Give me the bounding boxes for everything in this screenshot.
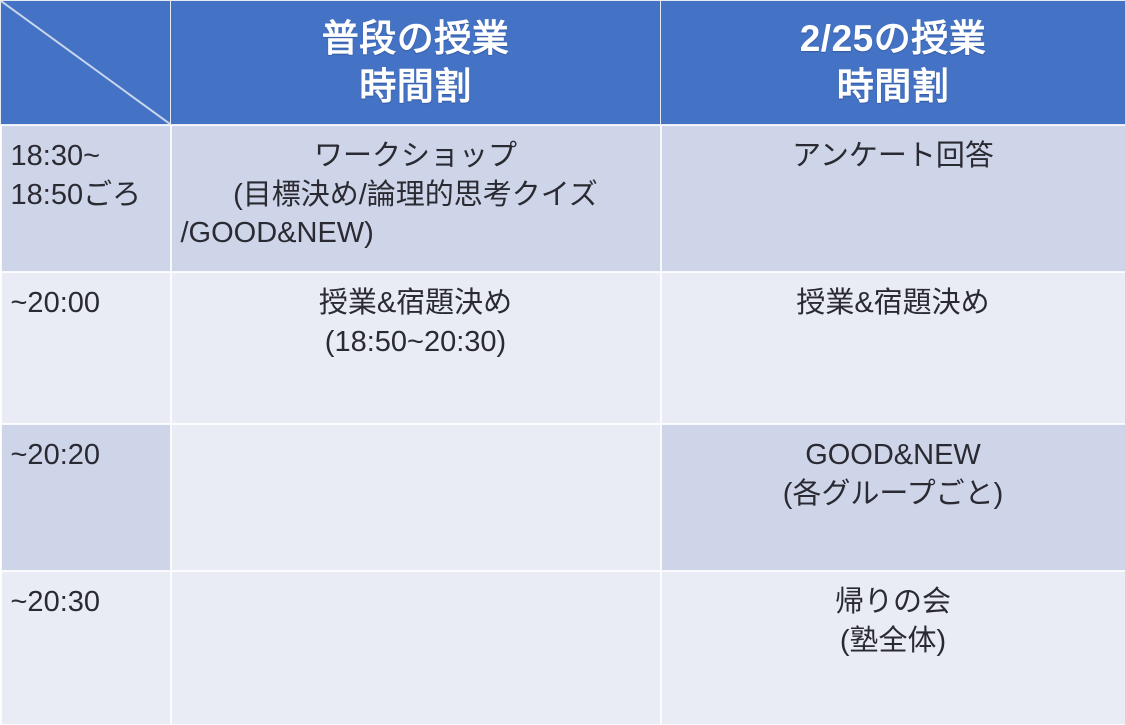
row-4-time-cell: ~20:30 — [1, 571, 171, 725]
table-row: ~20:00 授業&宿題決め (18:50~20:30) 授業&宿題決め — [1, 272, 1125, 424]
header-event-line-2: 時間割 — [667, 63, 1119, 110]
row-2-usual-line-2: (18:50~20:30) — [181, 323, 651, 362]
header-event-schedule: 2/25の授業 時間割 — [661, 1, 1125, 125]
row-1-usual-line-3: /GOOD&NEW) — [181, 214, 651, 253]
row-4-time-line-1: ~20:30 — [11, 583, 161, 622]
row-4-usual-cell — [171, 571, 661, 725]
timetable: 普段の授業 時間割 2/25の授業 時間割 18:30~ 18:50ごろ ワーク… — [0, 0, 1125, 725]
row-1-usual-line-2: (目標決め/論理的思考クイズ — [181, 176, 651, 215]
row-4-event-cell: 帰りの会 (塾全体) — [661, 571, 1125, 725]
row-2-event-line-1: 授業&宿題決め — [671, 284, 1116, 323]
row-2-time-line-1: ~20:00 — [11, 284, 161, 323]
row-3-event-cell: GOOD&NEW (各グループごと) — [661, 424, 1125, 571]
row-1-event-cell: アンケート回答 — [661, 125, 1125, 273]
header-usual-line-1: 普段の授業 — [177, 15, 654, 62]
row-4-event-line-1: 帰りの会 — [671, 583, 1116, 622]
row-3-time-line-1: ~20:20 — [11, 436, 161, 475]
corner-cell — [1, 1, 171, 125]
header-usual-line-2: 時間割 — [177, 63, 654, 110]
row-4-event-line-2: (塾全体) — [671, 622, 1116, 661]
header-usual-schedule: 普段の授業 時間割 — [171, 1, 661, 125]
row-3-event-line-1: GOOD&NEW — [671, 436, 1116, 475]
row-2-time-cell: ~20:00 — [1, 272, 171, 424]
table-row: ~20:30 帰りの会 (塾全体) — [1, 571, 1125, 725]
row-1-time-line-2: 18:50ごろ — [11, 176, 161, 215]
row-1-time-cell: 18:30~ 18:50ごろ — [1, 125, 171, 273]
row-1-usual-line-1: ワークショップ — [181, 137, 651, 176]
row-1-time-line-1: 18:30~ — [11, 137, 161, 176]
row-1-usual-cell: ワークショップ (目標決め/論理的思考クイズ /GOOD&NEW) — [171, 125, 661, 273]
table-row: ~20:20 GOOD&NEW (各グループごと) — [1, 424, 1125, 571]
row-2-usual-line-1: 授業&宿題決め — [181, 284, 651, 323]
row-1-event-line-1: アンケート回答 — [671, 137, 1116, 176]
header-event-line-1: 2/25の授業 — [667, 15, 1119, 62]
row-2-event-cell: 授業&宿題決め — [661, 272, 1125, 424]
header-row: 普段の授業 時間割 2/25の授業 時間割 — [1, 1, 1125, 125]
row-3-event-line-2: (各グループごと) — [671, 475, 1116, 514]
table-row: 18:30~ 18:50ごろ ワークショップ (目標決め/論理的思考クイズ /G… — [1, 125, 1125, 273]
diagonal-slash-icon — [1, 1, 170, 124]
row-3-time-cell: ~20:20 — [1, 424, 171, 571]
row-3-usual-cell — [171, 424, 661, 571]
row-2-usual-cell: 授業&宿題決め (18:50~20:30) — [171, 272, 661, 424]
timetable-header: 普段の授業 時間割 2/25の授業 時間割 — [1, 1, 1125, 125]
